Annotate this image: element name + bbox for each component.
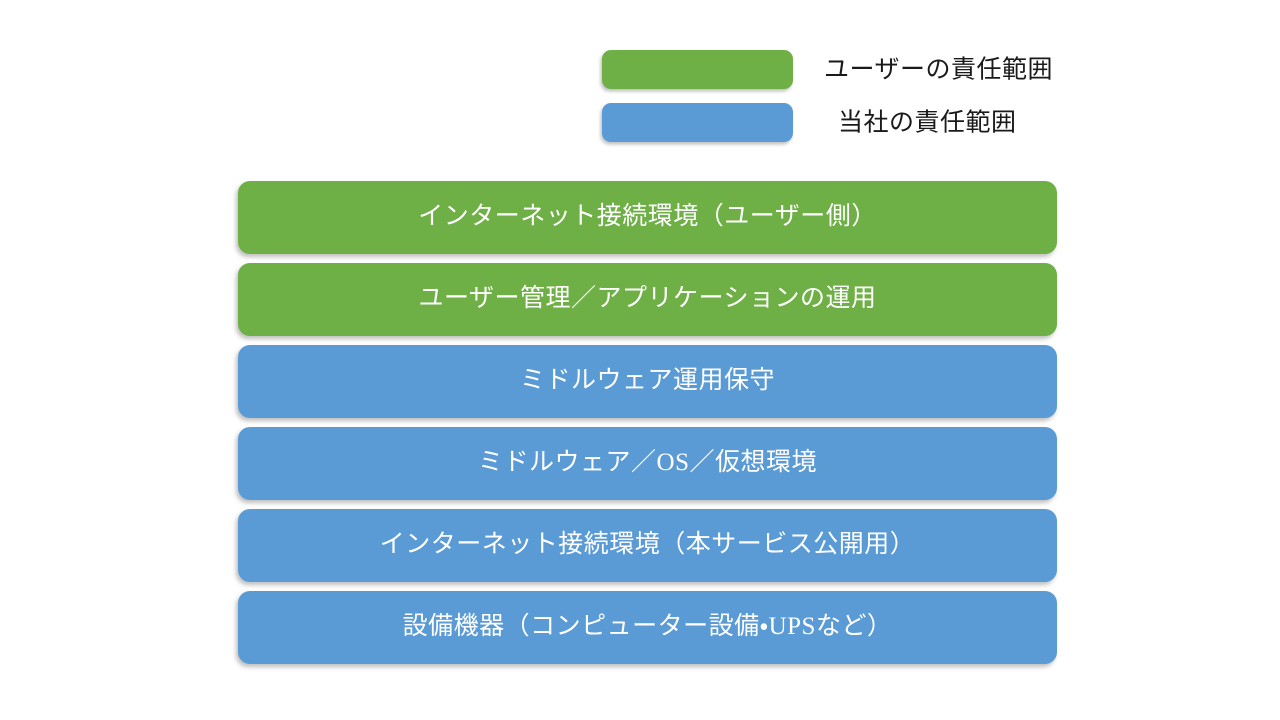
responsibility-scope-slide: ユーザーの責任範囲 当社の責任範囲 インターネット接続環境（ユーザー側） ユーザ…: [0, 0, 1280, 720]
layer-label: インターネット接続環境（ユーザー側）: [418, 203, 877, 232]
layer-bar-facility-equipment: 設備機器（コンピューター設備・UPSなど）: [238, 591, 1057, 664]
layer-bar-user-management-application-operation: ユーザー管理／アプリケーションの運用: [238, 263, 1057, 336]
legend-label-company: 当社の責任範囲: [838, 109, 1017, 137]
layer-label: ミドルウェア／OS／仮想環境: [478, 449, 817, 478]
legend-label-user: ユーザーの責任範囲: [824, 56, 1053, 84]
layer-label: ユーザー管理／アプリケーションの運用: [418, 285, 876, 314]
legend-swatch-company: [602, 103, 793, 142]
legend-swatch-user: [602, 50, 793, 89]
layer-label: インターネット接続環境（本サービス公開用）: [380, 531, 916, 560]
responsibility-layer-stack: インターネット接続環境（ユーザー側） ユーザー管理／アプリケーションの運用 ミド…: [238, 181, 1057, 664]
layer-label: ミドルウェア運用保守: [520, 367, 775, 396]
layer-bar-middleware-operation-maintenance: ミドルウェア運用保守: [238, 345, 1057, 418]
layer-label: 設備機器（コンピューター設備・UPSなど）: [403, 613, 893, 642]
layer-bar-internet-connection-service-publication: インターネット接続環境（本サービス公開用）: [238, 509, 1057, 582]
layer-bar-middleware-os-virtual-environment: ミドルウェア／OS／仮想環境: [238, 427, 1057, 500]
layer-bar-internet-connection-user-side: インターネット接続環境（ユーザー側）: [238, 181, 1057, 254]
